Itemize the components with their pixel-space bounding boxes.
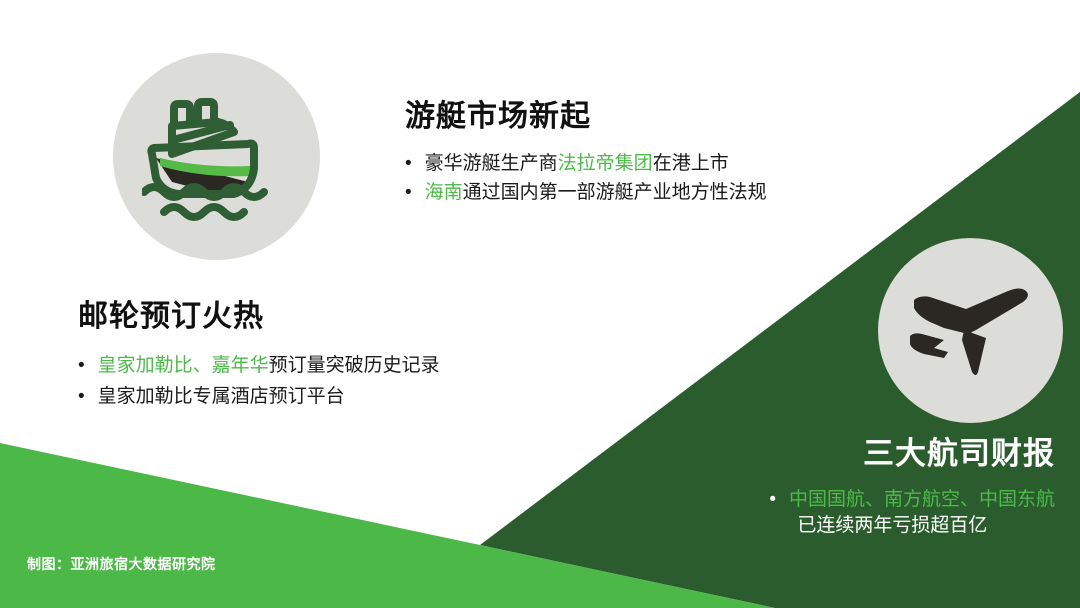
bullet-segment-accent: 海南 [425,182,463,203]
bullet-segment: 预订量突破历史记录 [269,355,440,376]
bullet-segment: 在港上市 [653,153,729,174]
list-item: • 中国国航、南方航空、中国东航 [769,487,1055,513]
bullet-text-accent: 中国国航、南方航空、中国东航 [789,487,1055,513]
ship-icon [142,82,292,232]
bullet-dot: • [78,384,85,410]
airlines-heading: 三大航司财报 [769,437,1055,471]
list-item: • 豪华游艇生产商法拉帝集团在港上市 [405,151,767,177]
section-yacht: 游艇市场新起 • 豪华游艇生产商法拉帝集团在港上市 • 海南通过国内第一部游艇产… [405,100,767,209]
credit-line: 制图：亚洲旅宿大数据研究院 [27,554,216,574]
bullet-segment-accent: 皇家加勒比、嘉年华 [98,355,269,376]
yacht-heading: 游艇市场新起 [405,100,767,133]
yacht-bullet-list: • 豪华游艇生产商法拉帝集团在港上市 • 海南通过国内第一部游艇产业地方性法规 [405,151,767,206]
bullet-text: 皇家加勒比、嘉年华预订量突破历史记录 [98,353,440,379]
list-item-continuation: 已连续两年亏损超百亿 [769,513,1055,539]
cruise-bullet-list: • 皇家加勒比、嘉年华预订量突破历史记录 • 皇家加勒比专属酒店预订平台 [78,353,440,410]
ship-icon-circle [113,53,320,260]
bullet-text: 皇家加勒比专属酒店预订平台 [98,384,345,410]
cruise-heading: 邮轮预订火热 [78,300,440,333]
bullet-segment-accent: 法拉帝集团 [558,153,653,174]
list-item: • 皇家加勒比、嘉年华预订量突破历史记录 [78,353,440,379]
bullet-segment: 通过国内第一部游艇产业地方性法规 [463,182,767,203]
bullet-segment: 皇家加勒比专属酒店预订平台 [98,386,345,407]
section-cruise: 邮轮预订火热 • 皇家加勒比、嘉年华预订量突破历史记录 • 皇家加勒比专属酒店预… [78,300,440,415]
infographic-slide: 游艇市场新起 • 豪华游艇生产商法拉帝集团在港上市 • 海南通过国内第一部游艇产… [0,0,1080,608]
section-airlines: 三大航司财报 • 中国国航、南方航空、中国东航 已连续两年亏损超百亿 [769,437,1055,540]
bullet-segment: 豪华游艇生产商 [425,153,558,174]
bullet-text: 海南通过国内第一部游艇产业地方性法规 [425,180,767,206]
airplane-icon [904,264,1038,398]
bullet-text: 豪华游艇生产商法拉帝集团在港上市 [425,151,729,177]
bullet-dot: • [405,151,412,177]
airlines-bullet-list: • 中国国航、南方航空、中国东航 已连续两年亏损超百亿 [769,487,1055,539]
bullet-dot: • [405,180,412,206]
bullet-dot: • [769,487,776,513]
list-item: • 皇家加勒比专属酒店预订平台 [78,384,440,410]
bullet-continuation-text: 已连续两年亏损超百亿 [797,513,987,539]
bullet-dot: • [78,353,85,379]
airplane-icon-circle [878,238,1063,423]
list-item: • 海南通过国内第一部游艇产业地方性法规 [405,180,767,206]
